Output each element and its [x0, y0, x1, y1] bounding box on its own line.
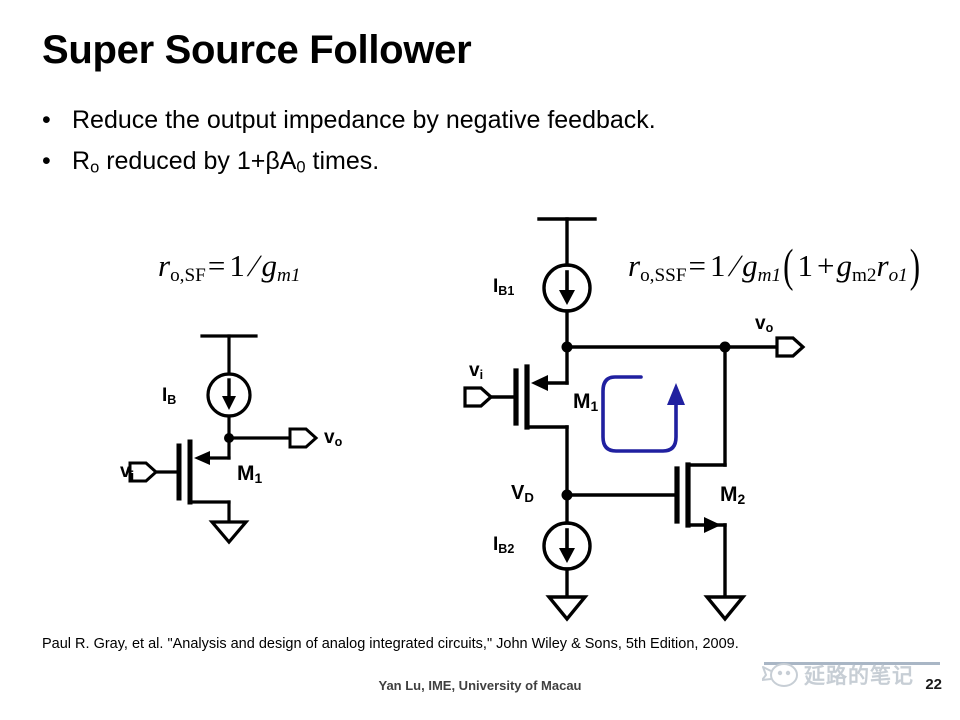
ground-symbol-left [549, 597, 585, 619]
current-source-arrowhead [222, 396, 236, 410]
bullet-text-pre: R [72, 147, 90, 175]
label-current-source-ib2: IB2 [493, 534, 514, 556]
diagram-source-follower: IB vi vo M1 [120, 330, 360, 555]
vd-node-dot [562, 490, 573, 501]
feedback-loop-arrowhead [667, 383, 685, 405]
label-transistor-m2: M2 [720, 483, 745, 507]
list-item: • Ro reduced by 1+βA0 times. [42, 141, 762, 189]
output-node-dot-left [562, 342, 573, 353]
label-node-vd: VD [511, 482, 534, 505]
label-input-vi: vi [120, 461, 134, 483]
slide-number: 22 [925, 676, 942, 693]
output-port-symbol [777, 338, 803, 356]
super-source-follower-svg [455, 205, 845, 625]
equation-source-follower: ro,SF=1/gm1 [158, 248, 300, 287]
label-transistor-m1: M1 [237, 462, 262, 486]
m1-source-arrowhead [531, 375, 548, 391]
bullet-text-post: times. [306, 147, 380, 175]
eq-ssf-term3-sub: o1 [889, 265, 908, 286]
label-transistor-m1: M1 [573, 390, 598, 414]
input-port-symbol [465, 388, 491, 406]
bullet-text: Reduce the output impedance by negative … [72, 100, 656, 141]
bullet-marker: • [42, 141, 72, 182]
output-port-symbol [290, 429, 316, 447]
diagram-super-source-follower: IB1 IB2 vi vo M1 M2 VD [455, 205, 845, 630]
eq-sf-denom-sub: m1 [277, 265, 300, 286]
bullet-text: Ro reduced by 1+βA0 times. [72, 141, 379, 189]
label-output-vo: vo [324, 427, 342, 449]
output-node-dot [224, 433, 234, 443]
current-source-ib2-arrowhead [559, 548, 575, 563]
eq-ssf-paren-close: ) [908, 239, 922, 293]
slide-canvas: Super Source Follower • Reduce the outpu… [0, 0, 960, 720]
eq-ssf-term3-var: r [876, 248, 888, 283]
eq-sf-lhs-sub: o,SF [170, 265, 206, 286]
label-current-source-ib1: IB1 [493, 276, 514, 298]
ground-symbol [212, 522, 246, 542]
list-item: • Reduce the output impedance by negativ… [42, 100, 762, 141]
label-input-vi: vi [469, 360, 483, 382]
output-node-dot-right [720, 342, 731, 353]
bullet-marker: • [42, 100, 72, 141]
ground-symbol-right [707, 597, 743, 619]
label-output-vo: vo [755, 313, 773, 335]
m2-source-arrowhead [704, 517, 721, 533]
reference-citation: Paul R. Gray, et al. "Analysis and desig… [42, 636, 739, 652]
bullet-text-sub-o: o [90, 159, 99, 177]
bullet-list: • Reduce the output impedance by negativ… [42, 100, 762, 189]
author-attribution: Yan Lu, IME, University of Macau [0, 678, 960, 693]
watermark-bar [764, 662, 940, 665]
eq-ssf-term2-sub: m2 [852, 265, 877, 286]
eq-sf-equals: = [206, 248, 227, 283]
label-current-source-ib: IB [162, 385, 176, 407]
current-source-ib1-arrowhead [559, 290, 575, 305]
feedback-loop-path [603, 377, 676, 451]
bullet-text-mid: reduced by 1+βA [99, 147, 296, 175]
bullet-text-sub-zero: 0 [296, 159, 305, 177]
page-title: Super Source Follower [42, 28, 471, 73]
eq-sf-lhs-var: r [158, 248, 170, 283]
transistor-source-arrowhead [194, 451, 210, 465]
